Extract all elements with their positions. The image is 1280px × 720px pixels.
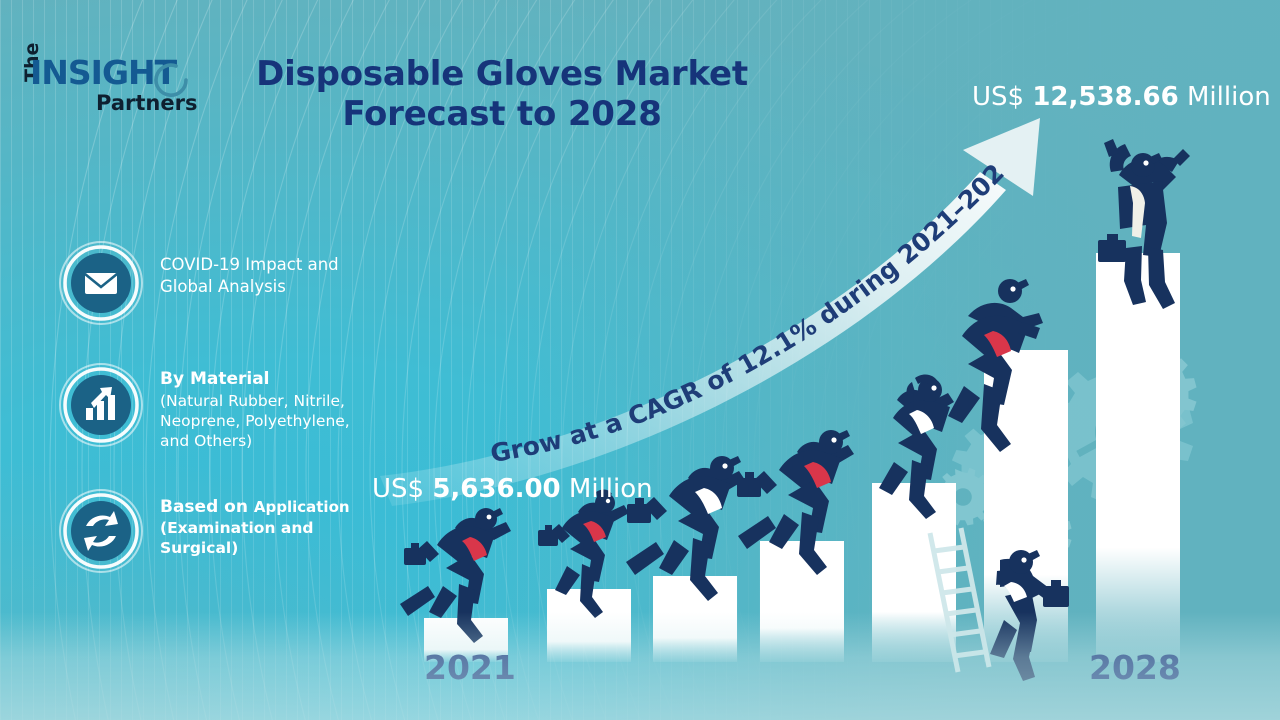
list-item-by-application[interactable]: Based on Application (Examination and Su… — [58, 488, 388, 574]
application-heading-sub: Application — [254, 498, 350, 516]
material-line-3: and Others) — [160, 432, 252, 450]
list-item-text: COVID-19 Impact and Global Analysis — [160, 240, 388, 298]
company-logo[interactable]: The INSIGHT Partners — [8, 38, 208, 120]
start-currency: US$ — [372, 474, 424, 504]
covid-line-1: COVID-19 Impact and — [160, 255, 339, 274]
infographic-canvas: Grow at a CAGR of 12.1% during 2021–2028… — [0, 0, 1280, 720]
material-heading: By Material — [160, 368, 388, 390]
covid-line-2: Global Analysis — [160, 277, 286, 296]
start-unit: Million — [569, 474, 653, 504]
application-heading: Based on Application — [160, 497, 350, 517]
logo-partners-text: Partners — [96, 91, 197, 115]
end-value-label: US$ 12,538.66 Million — [972, 82, 1271, 112]
list-item-covid-impact[interactable]: COVID-19 Impact and Global Analysis — [58, 240, 388, 326]
envelope-icon — [58, 240, 144, 326]
application-line-2: Surgical) — [160, 539, 238, 557]
start-amount: 5,636.00 — [432, 474, 560, 504]
growth-arrow-ribbon — [380, 118, 1040, 506]
list-item-by-material[interactable]: By Material (Natural Rubber, Nitrile, Ne… — [58, 362, 388, 452]
material-line-2: Neoprene, Polyethylene, — [160, 412, 350, 430]
material-line-1: (Natural Rubber, Nitrile, — [160, 392, 345, 410]
floor-reflection — [0, 612, 1280, 720]
list-item-text: Based on Application (Examination and Su… — [160, 488, 388, 559]
end-amount: 12,538.66 — [1032, 82, 1178, 112]
application-heading-main: Based on — [160, 497, 248, 517]
page-title: Disposable Gloves Market Forecast to 202… — [222, 54, 782, 134]
highlights-list: COVID-19 Impact and Global Analysis By M… — [58, 240, 388, 610]
title-line-2: Forecast to 2028 — [222, 94, 782, 134]
recycle-arrows-icon — [58, 488, 144, 574]
end-unit: Million — [1187, 82, 1271, 112]
title-line-1: Disposable Gloves Market — [256, 54, 748, 94]
list-item-text: By Material (Natural Rubber, Nitrile, Ne… — [160, 362, 388, 452]
bar-chart-growth-icon — [58, 362, 144, 448]
start-value-label: US$ 5,636.00 Million — [372, 474, 653, 504]
application-line-1: (Examination and — [160, 519, 313, 537]
end-currency: US$ — [972, 82, 1024, 112]
bar-2028 — [1096, 253, 1180, 662]
